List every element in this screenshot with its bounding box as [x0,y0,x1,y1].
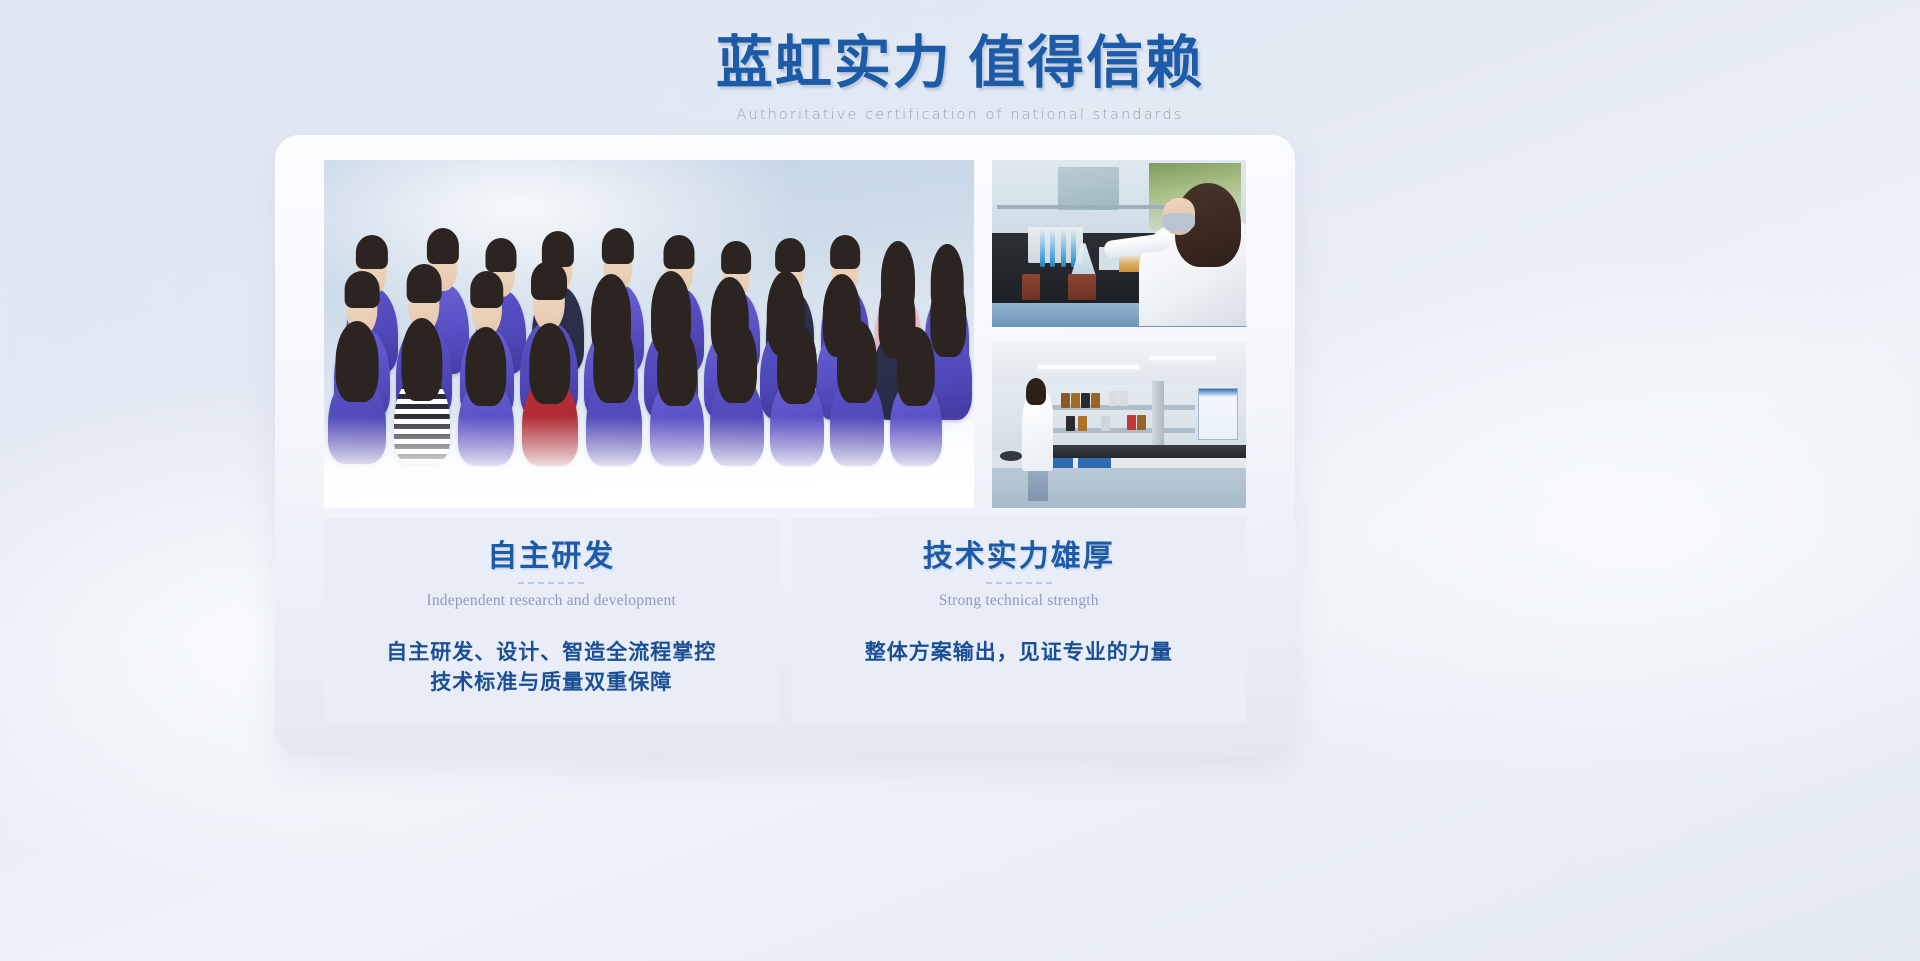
feature-card-subtitle: Strong technical strength [810,592,1229,610]
content-panel: 自主研发 Independent research and developmen… [275,135,1295,755]
lab-technician-at-bench-photo [992,160,1246,327]
divider-dots [810,582,1229,584]
divider-dots [342,582,761,584]
feature-card-body: 自主研发、设计、智造全流程掌控 技术标准与质量双重保障 [342,637,761,698]
feature-card-title: 自主研发 [342,540,761,573]
page-header: 蓝虹实力 值得信赖 Authoritative certification of… [0,30,1920,123]
feature-card-title: 技术实力雄厚 [810,540,1229,573]
feature-card-body-line: 整体方案输出，见证专业的力量 [810,637,1229,667]
gallery [324,160,1246,508]
page-subtitle: Authoritative certification of national … [0,107,1920,123]
page-title: 蓝虹实力 值得信赖 [0,30,1920,97]
feature-card-subtitle: Independent research and development [342,592,761,610]
feature-card-body-line: 自主研发、设计、智造全流程掌控 [342,637,761,667]
laboratory-room-interior-photo [992,342,1246,509]
feature-card-body: 整体方案输出，见证专业的力量 [810,637,1229,667]
team-photo-floor-fade [324,416,974,508]
feature-card-independent-rnd: 自主研发 Independent research and developmen… [324,518,779,723]
team-group-photo [324,160,974,508]
feature-cards: 自主研发 Independent research and developmen… [324,518,1246,723]
feature-card-technical-strength: 技术实力雄厚 Strong technical strength 整体方案输出，… [792,518,1247,723]
feature-card-body-line: 技术标准与质量双重保障 [342,667,761,697]
gallery-right-column [992,160,1246,508]
